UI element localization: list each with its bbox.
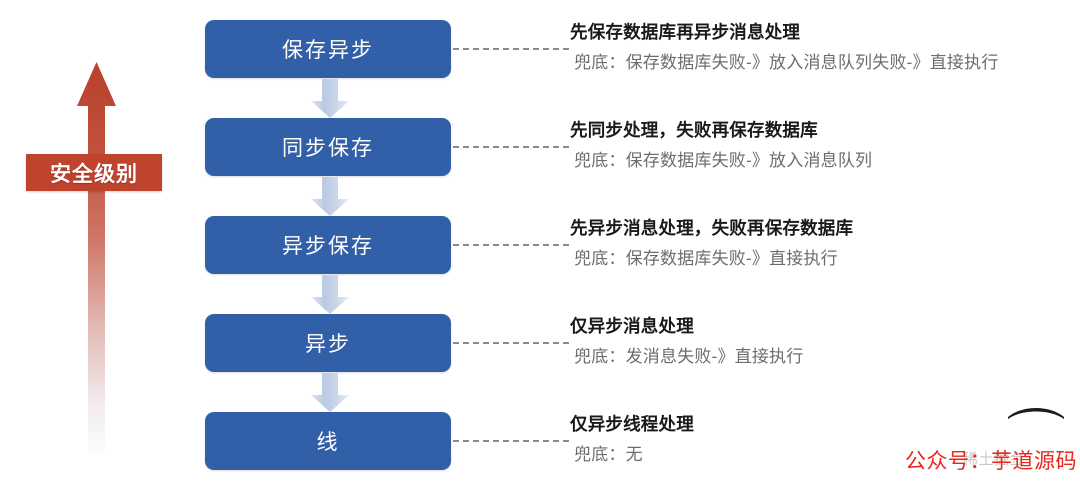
flow-box-5[interactable]: 线 xyxy=(205,412,451,470)
connector-line-1 xyxy=(453,48,569,50)
security-level-badge: 安全级别 xyxy=(26,154,162,191)
note-4-title: 仅异步消息处理 xyxy=(570,315,1080,337)
flow-box-4[interactable]: 异步 xyxy=(205,314,451,372)
note-1-title: 先保存数据库再异步消息处理 xyxy=(570,21,1080,43)
note-4-sub: 兜底：发消息失败-》直接执行 xyxy=(574,346,1080,368)
security-level-label: 安全级别 xyxy=(50,158,138,188)
down-arrow-icon-3 xyxy=(309,275,351,315)
flow-box-2[interactable]: 同步保存 xyxy=(205,118,451,176)
watermark-red-text: 公众号：芋道源码 xyxy=(905,445,1077,475)
flow-box-1[interactable]: 保存异步 xyxy=(205,20,451,78)
security-level-axis: 安全级别 xyxy=(0,0,200,481)
note-1-sub: 兜底：保存数据库失败-》放入消息队列失败-》直接执行 xyxy=(574,52,1080,74)
note-1: 先保存数据库再异步消息处理 兜底：保存数据库失败-》放入消息队列失败-》直接执行 xyxy=(570,21,1080,74)
connector-line-5 xyxy=(453,440,569,442)
note-4: 仅异步消息处理 兜底：发消息失败-》直接执行 xyxy=(570,315,1080,368)
down-arrow-icon-1 xyxy=(309,79,351,119)
down-arrow-icon-4 xyxy=(309,373,351,413)
flow-box-2-label: 同步保存 xyxy=(282,132,374,162)
flow-box-3-label: 异步保存 xyxy=(282,230,374,260)
connector-line-4 xyxy=(453,342,569,344)
flow-column: 保存异步 同步保存 异步保存 异步 xyxy=(205,0,455,481)
flow-box-3[interactable]: 异步保存 xyxy=(205,216,451,274)
note-3-sub: 兜底：保存数据库失败-》直接执行 xyxy=(574,248,1080,270)
notes-column: 先保存数据库再异步消息处理 兜底：保存数据库失败-》放入消息队列失败-》直接执行… xyxy=(570,0,1080,481)
flow-box-4-label: 异步 xyxy=(305,328,351,358)
watermark-curve-icon xyxy=(1008,404,1064,420)
flow-box-1-label: 保存异步 xyxy=(282,34,374,64)
note-5-title: 仅异步线程处理 xyxy=(570,413,1080,435)
flow-box-5-label: 线 xyxy=(317,426,340,456)
note-2: 先同步处理，失败再保存数据库 兜底：保存数据库失败-》放入消息队列 xyxy=(570,119,1080,172)
diagram-canvas: 安全级别 保存异步 同步保存 异步保存 xyxy=(0,0,1080,481)
note-2-title: 先同步处理，失败再保存数据库 xyxy=(570,119,1080,141)
connector-line-3 xyxy=(453,244,569,246)
note-3-title: 先异步消息处理，失败再保存数据库 xyxy=(570,217,1080,239)
down-arrow-icon-2 xyxy=(309,177,351,217)
note-3: 先异步消息处理，失败再保存数据库 兜底：保存数据库失败-》直接执行 xyxy=(570,217,1080,270)
note-2-sub: 兜底：保存数据库失败-》放入消息队列 xyxy=(574,150,1080,172)
upward-arrow-icon xyxy=(0,0,200,481)
connector-line-2 xyxy=(453,146,569,148)
